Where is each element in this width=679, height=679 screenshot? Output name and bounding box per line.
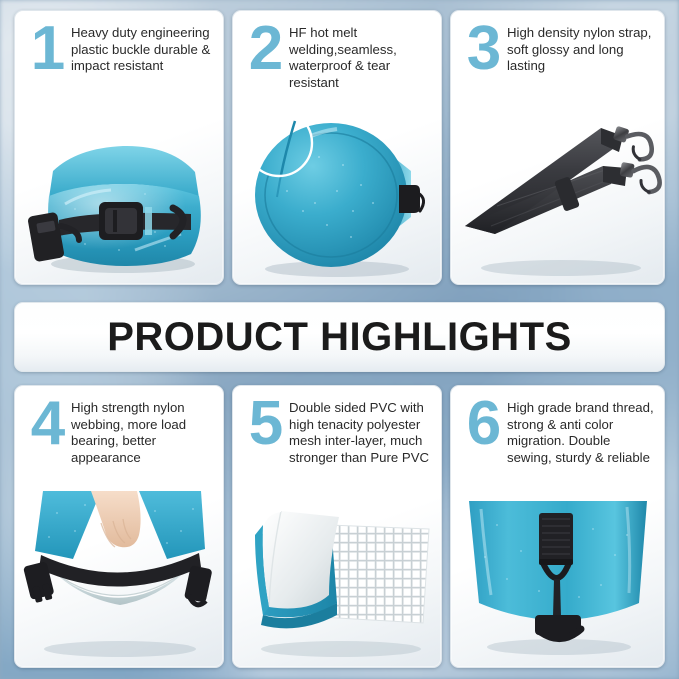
card-3-description: High density nylon strap, soft glossy an…	[507, 23, 654, 75]
dry-bag-with-buckle-photo	[15, 114, 223, 284]
card-5-description: Double sided PVC with high tenacity poly…	[289, 398, 431, 466]
highlight-card-2[interactable]: 2 HF hot melt welding,seamless, waterpro…	[232, 10, 442, 285]
card-6-number: 6	[459, 398, 507, 466]
highlight-card-5[interactable]: 5 Double sided PVC with high tenacity po…	[232, 385, 442, 668]
infographic-frame: 1 Heavy duty engineering plastic buckle …	[0, 0, 679, 679]
stitched-d-ring-photo	[451, 495, 664, 667]
card-4-header: 4 High strength nylon webbing, more load…	[15, 386, 223, 466]
card-1-description: Heavy duty engineering plastic buckle du…	[71, 23, 213, 75]
welded-seam-closeup-photo	[233, 99, 441, 284]
nylon-webbing-handle-photo	[15, 487, 223, 667]
card-2-header: 2 HF hot melt welding,seamless, waterpro…	[233, 11, 441, 91]
pvc-mesh-material-photo	[233, 499, 441, 667]
highlight-card-1[interactable]: 1 Heavy duty engineering plastic buckle …	[14, 10, 224, 285]
highlight-card-6[interactable]: 6 High grade brand thread, strong & anti…	[450, 385, 665, 668]
card-2-number: 2	[241, 23, 289, 91]
webbing-loop	[539, 513, 573, 563]
card-3-number: 3	[459, 23, 507, 75]
card-4-description: High strength nylon webbing, more load b…	[71, 398, 213, 466]
card-3-header: 3 High density nylon strap, soft glossy …	[451, 11, 664, 75]
nylon-shoulder-strap-photo	[451, 106, 664, 284]
card-5-number: 5	[241, 398, 289, 466]
card-1-header: 1 Heavy duty engineering plastic buckle …	[15, 11, 223, 75]
card-2-description: HF hot melt welding,seamless, waterproof…	[289, 23, 431, 91]
card-1-number: 1	[23, 23, 71, 75]
card-6-description: High grade brand thread, strong & anti c…	[507, 398, 654, 466]
product-highlights-banner: PRODUCT HIGHLIGHTS	[14, 302, 665, 372]
card-6-header: 6 High grade brand thread, strong & anti…	[451, 386, 664, 466]
highlight-card-3[interactable]: 3 High density nylon strap, soft glossy …	[450, 10, 665, 285]
highlight-card-4[interactable]: 4 High strength nylon webbing, more load…	[14, 385, 224, 668]
banner-title: PRODUCT HIGHLIGHTS	[107, 315, 572, 360]
card-5-header: 5 Double sided PVC with high tenacity po…	[233, 386, 441, 466]
card-4-number: 4	[23, 398, 71, 466]
